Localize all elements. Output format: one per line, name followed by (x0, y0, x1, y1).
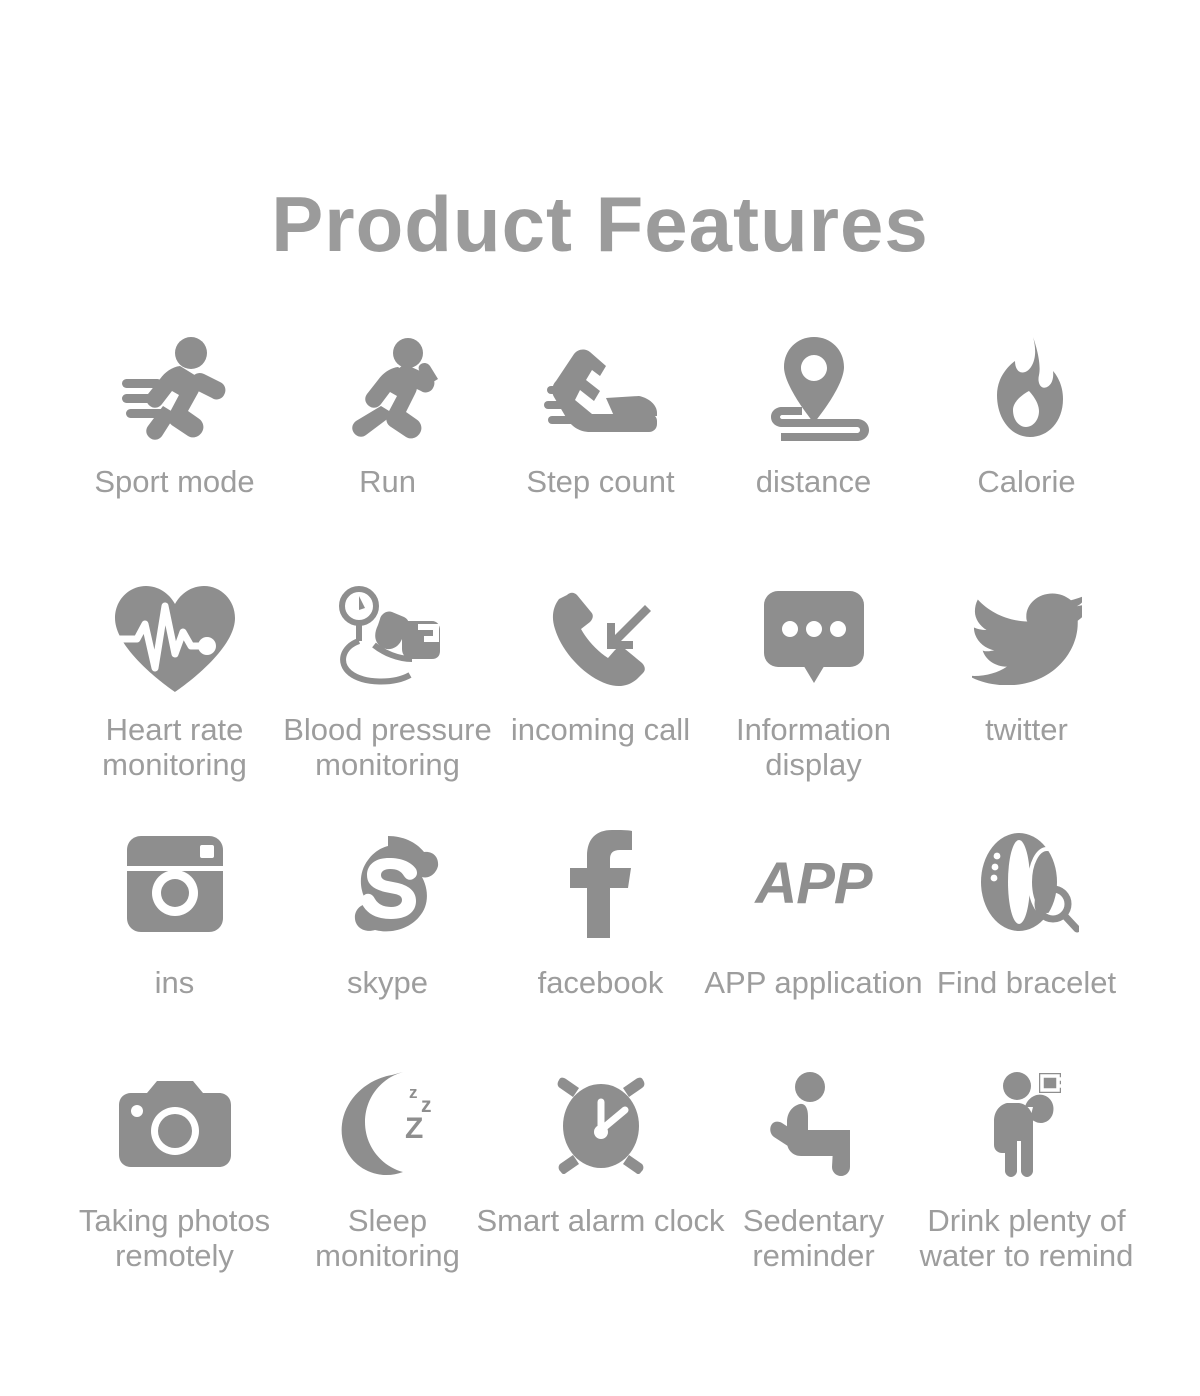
feature-item-sedentary-reminder[interactable]: Sedentary reminder (707, 1065, 920, 1300)
crescent-moon-zzz-icon: z z Z (333, 1065, 443, 1183)
feature-label: Sport mode (94, 464, 254, 499)
facebook-f-icon (568, 825, 634, 943)
product-features-page: Product Features (0, 0, 1200, 1396)
feature-item-smart-alarm-clock[interactable]: Smart alarm clock (494, 1065, 707, 1300)
feature-item-sleep-monitoring[interactable]: z z Z Sleep monitoring (281, 1065, 494, 1300)
svg-text:Z: Z (405, 1112, 423, 1145)
bracelet-magnifier-icon (975, 825, 1079, 943)
feature-item-facebook[interactable]: facebook (494, 825, 707, 1065)
feature-item-app-application[interactable]: APP APP application (707, 825, 920, 1065)
person-drinking-icon (981, 1065, 1073, 1183)
feature-label: skype (347, 965, 428, 1000)
incoming-call-icon (549, 580, 653, 698)
feature-item-ins[interactable]: ins (68, 825, 281, 1065)
map-pin-road-icon (757, 330, 871, 448)
feature-label: Run (359, 464, 416, 499)
feature-row: Taking photos remotely z z Z Sleep monit… (68, 1065, 1133, 1300)
feature-label: Information display (689, 712, 939, 782)
page-title: Product Features (0, 185, 1200, 263)
feature-item-sport-mode[interactable]: Sport mode (68, 330, 281, 580)
feature-label: Step count (526, 464, 674, 499)
blood-pressure-monitor-icon (332, 580, 444, 698)
feature-label: twitter (985, 712, 1068, 747)
running-person-speedlines-icon (120, 330, 230, 448)
feature-label: Drink plenty of water to remind (892, 1203, 1162, 1273)
feature-item-taking-photos[interactable]: Taking photos remotely (68, 1065, 281, 1300)
sitting-person-icon (768, 1065, 860, 1183)
sneaker-icon (544, 330, 658, 448)
skype-icon (337, 825, 439, 943)
feature-item-skype[interactable]: skype (281, 825, 494, 1065)
feature-item-information-display[interactable]: Information display (707, 580, 920, 825)
svg-text:z: z (409, 1083, 418, 1102)
feature-item-twitter[interactable]: twitter (920, 580, 1133, 825)
alarm-clock-icon (553, 1065, 649, 1183)
feature-label: Calorie (977, 464, 1075, 499)
running-person-icon (336, 330, 440, 448)
heart-ecg-icon (113, 580, 237, 698)
feature-label: distance (756, 464, 871, 499)
feature-item-find-bracelet[interactable]: Find bracelet (920, 825, 1133, 1065)
feature-item-heart-rate[interactable]: Heart rate monitoring (68, 580, 281, 825)
twitter-bird-icon (972, 580, 1082, 698)
speech-bubble-dots-icon (762, 580, 866, 698)
features-grid: Sport mode Run (68, 330, 1133, 1300)
feature-row: ins skype (68, 825, 1133, 1065)
feature-item-distance[interactable]: distance (707, 330, 920, 580)
instagram-camera-icon (127, 825, 223, 943)
feature-label: ins (155, 965, 195, 1000)
app-text-icon: APP (755, 825, 871, 943)
feature-item-blood-pressure[interactable]: Blood pressure monitoring (281, 580, 494, 825)
feature-item-drink-water[interactable]: Drink plenty of water to remind (920, 1065, 1133, 1300)
feature-item-incoming-call[interactable]: incoming call (494, 580, 707, 825)
flame-icon (985, 330, 1069, 448)
feature-label: facebook (538, 965, 664, 1000)
camera-icon (119, 1065, 231, 1183)
feature-label: Find bracelet (892, 965, 1162, 1000)
feature-item-step-count[interactable]: Step count (494, 330, 707, 580)
feature-row: Sport mode Run (68, 330, 1133, 580)
feature-item-run[interactable]: Run (281, 330, 494, 580)
app-text-label: APP (755, 855, 871, 913)
feature-row: Heart rate monitoring (68, 580, 1133, 825)
feature-item-calorie[interactable]: Calorie (920, 330, 1133, 580)
